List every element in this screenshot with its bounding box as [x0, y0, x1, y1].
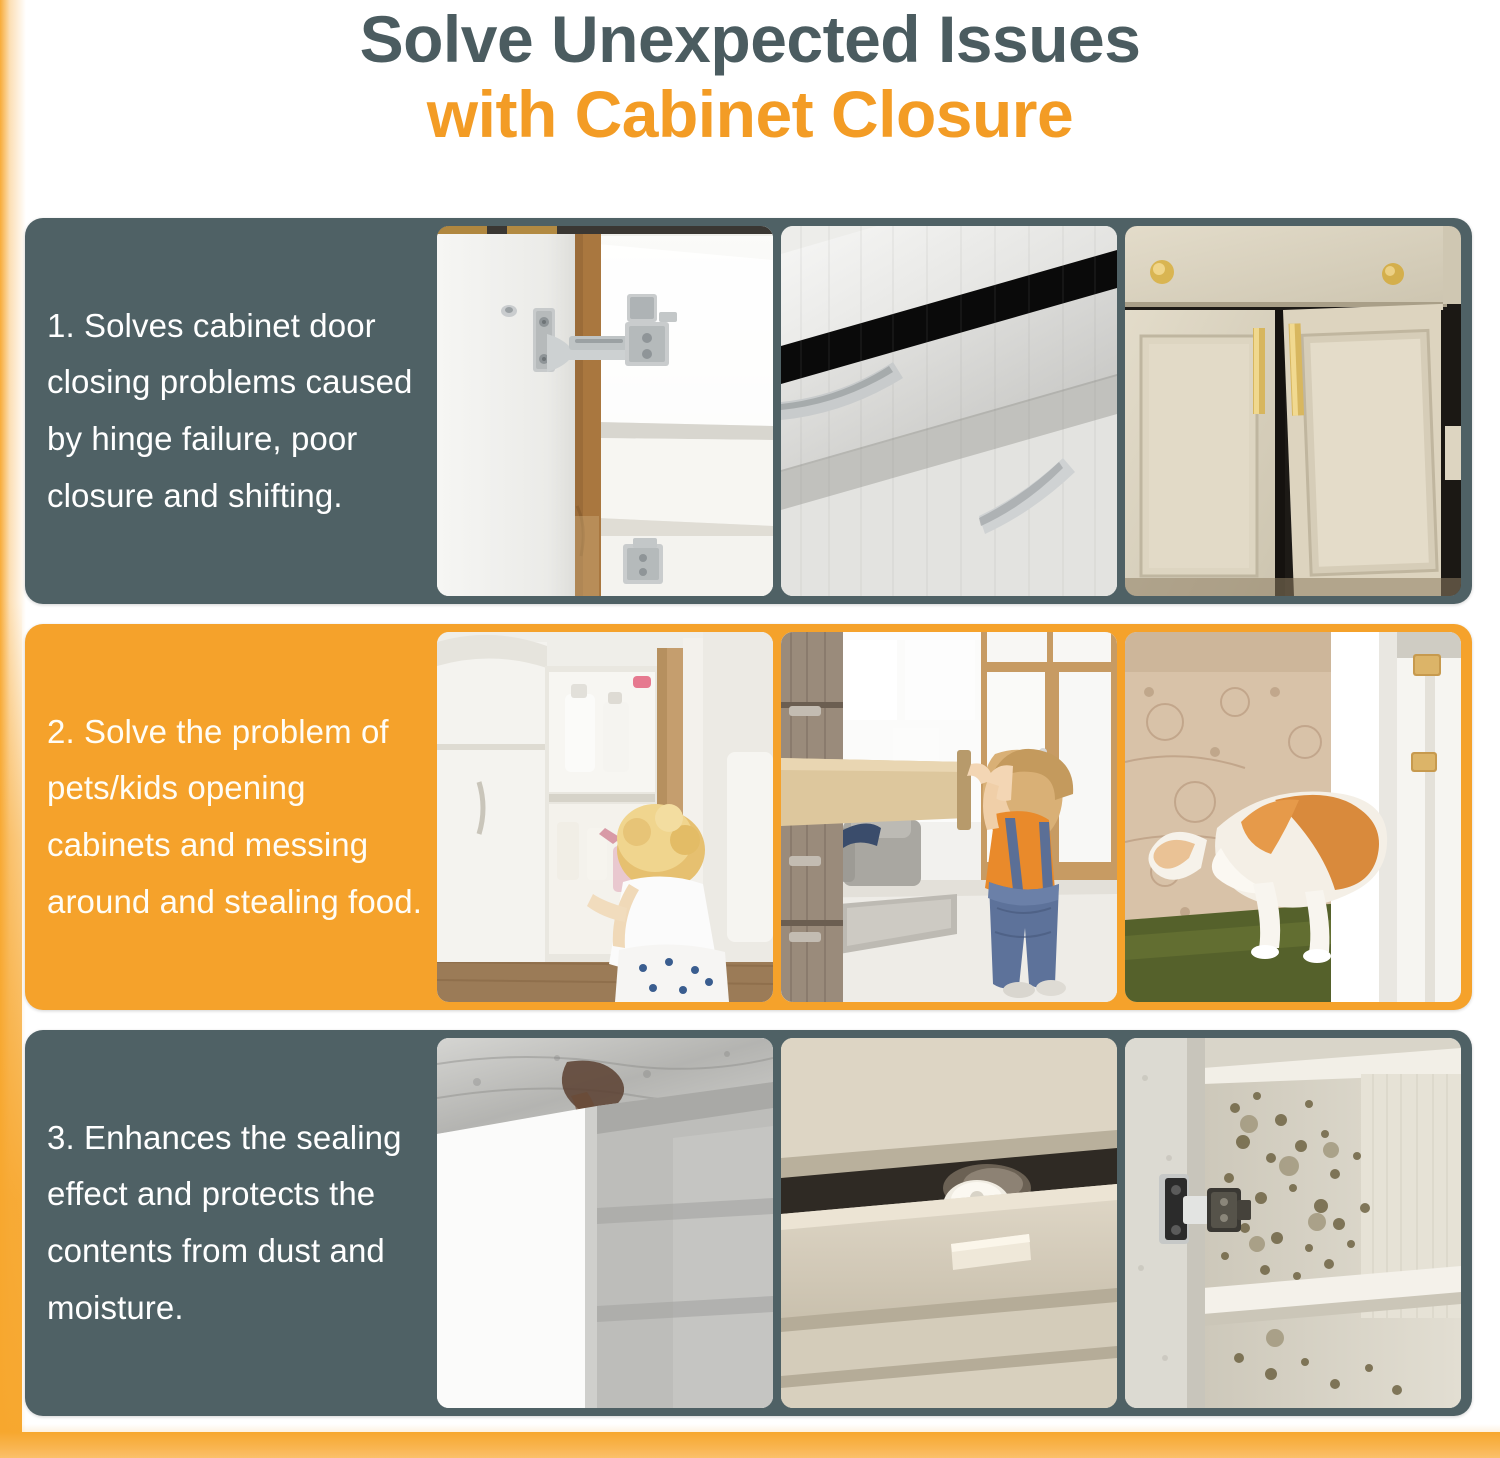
bottom-accent-strip [0, 1432, 1500, 1458]
thumb-open-beige-drawer-contents[interactable] [781, 1038, 1117, 1408]
feature-row-2: 2. Solve the problem of pets/kids openin… [25, 624, 1472, 1010]
thumb-white-cabinet-door-grey-counter[interactable] [437, 1038, 773, 1408]
thumb-mouldy-cabinet-interior-hinge[interactable] [1125, 1038, 1461, 1408]
thumb-boy-pulling-open-drawer[interactable] [781, 632, 1117, 1002]
feature-row-3-text: 3. Enhances the sealing effect and prote… [25, 1110, 437, 1337]
left-accent-strip [0, 600, 22, 1458]
thumb-toddler-reaching-into-cabinet[interactable] [437, 632, 773, 1002]
infographic-root: Solve Unexpected Issues with Cabinet Clo… [0, 0, 1500, 1458]
thumb-dog-in-open-cabinet[interactable] [1125, 632, 1461, 1002]
feature-row-2-text: 2. Solve the problem of pets/kids openin… [25, 704, 437, 931]
feature-row-3-thumbnails [437, 1038, 1472, 1408]
thumb-white-cabinet-open-door-hinge[interactable] [437, 226, 773, 596]
title-line-primary: Solve Unexpected Issues [0, 2, 1500, 77]
thumb-beige-shaker-cabinet-doors[interactable] [1125, 226, 1461, 596]
feature-row-3: 3. Enhances the sealing effect and prote… [25, 1030, 1472, 1416]
thumb-white-drawer-front-gap[interactable] [781, 226, 1117, 596]
feature-row-1-text: 1. Solves cabinet door closing problems … [25, 298, 437, 525]
feature-row-2-thumbnails [437, 632, 1472, 1002]
feature-row-1-thumbnails [437, 226, 1472, 596]
page-title: Solve Unexpected Issues with Cabinet Clo… [0, 0, 1500, 152]
feature-row-1: 1. Solves cabinet door closing problems … [25, 218, 1472, 604]
title-line-secondary: with Cabinet Closure [0, 77, 1500, 152]
